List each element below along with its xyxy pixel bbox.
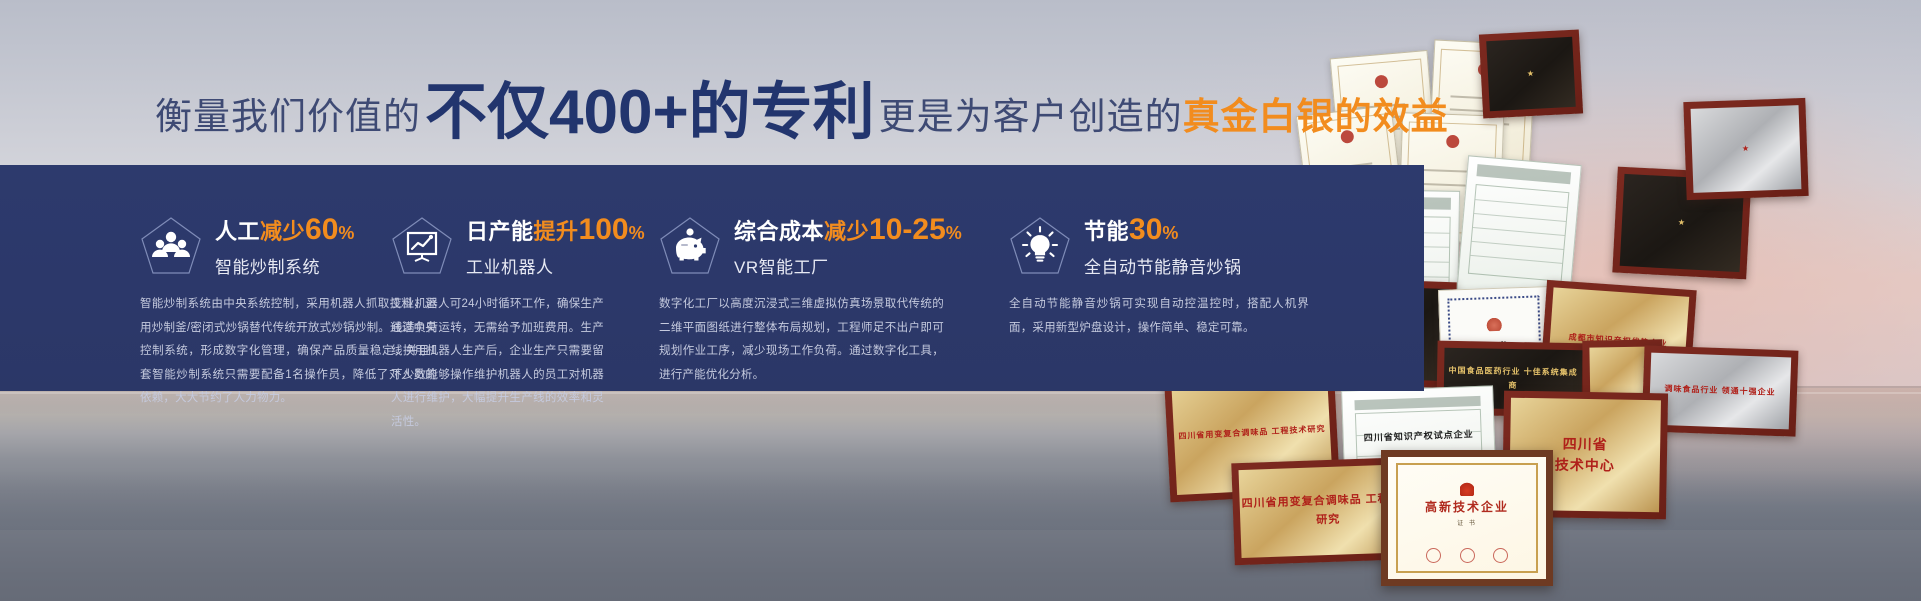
headline-tail: 更是为客户创造的 [879,86,1183,140]
feature-title: 综合成本减少10-25% [734,215,962,245]
certificate-item: 高新技术企业 证 书 [1381,450,1553,586]
certificate-label: 四川省 技术中心 [1555,433,1616,476]
feature-value: 10-25 [869,213,946,246]
certificate-label: ★ [1527,67,1536,81]
certificate-label: ★ [1742,142,1751,156]
page-title: 衡量我们价值的 不仅400+的专利 更是为客户创造的 真金白银的效益 [155,78,1449,138]
certificate-item: ★ [1479,29,1583,118]
feature-block-2: 日产能提升100% 工业机器人 工业机器人可24小时循环工作，确保生产线满负荷运… [336,165,604,391]
feature-title: 节能30% [1084,215,1242,245]
certificate-label: 调味食品行业 领通十强企业 [1664,382,1776,399]
feature-subtitle: 全自动节能静音炒锅 [1084,253,1242,278]
certificate-label: 四川省用变复合调味品 工程技术研究 [1178,422,1326,443]
feature-title-main: 综合成本 [734,219,824,244]
certificate-label: 高新技术企业 [1388,498,1546,515]
banner-root: 证 书 CERTIFICATE ★ 证 书 CERTIFICATE 成都市知识产… [0,0,1921,601]
feature-subtitle: VR智能工厂 [734,253,962,278]
headline-lead: 衡量我们价值的 [155,86,421,140]
piggy-bank-icon [659,216,721,276]
feature-title-accent: 减少 [824,219,869,244]
feature-title-accent: 提升 [534,219,579,244]
feature-title-main: 节能 [1084,219,1129,244]
certificate-item: ★ [1683,98,1808,200]
feature-body: 工业机器人可24小时循环工作，确保生产线满负荷运转，无需给予加班费用。生产线换用… [391,293,604,434]
feature-value: 60 [305,213,338,246]
feature-body: 数字化工厂以高度沉浸式三维虚拟仿真场景取代传统的二维平面图纸进行整体布局规划，工… [659,293,944,387]
headline-accent: 真金白银的效益 [1183,86,1449,140]
feature-unit: % [1162,223,1178,243]
feature-title: 人工减少60% [215,215,354,245]
certificate-sublabel: 证 书 [1388,518,1546,527]
feature-subtitle: 智能炒制系统 [215,253,354,278]
certificate-label: ★ [1678,216,1687,230]
feature-block-4: 节能30% 全自动节能静音炒锅 全自动节能静音炒锅可实现自动控温控时，搭配人机界… [944,165,1344,391]
lightbulb-icon [1009,216,1071,276]
feature-title-accent: 减少 [260,219,305,244]
feature-block-3: 综合成本减少10-25% VR智能工厂 数字化工厂以高度沉浸式三维虚拟仿真场景取… [604,165,944,391]
feature-body: 全自动节能静音炒锅可实现自动控温控时，搭配人机界面，采用新型炉盘设计，操作简单、… [1009,293,1309,340]
feature-title-main: 日产能 [466,219,534,244]
headline-highlight: 不仅400+的专利 [421,82,879,144]
feature-value: 30 [1129,213,1162,246]
feature-title-main: 人工 [215,219,260,244]
feature-block-1: 人工减少60% 智能炒制系统 智能炒制系统由中央系统控制，采用机器人抓取投料，运… [0,165,336,391]
people-group-icon [140,216,202,276]
features-panel: 人工减少60% 智能炒制系统 智能炒制系统由中央系统控制，采用机器人抓取投料，运… [0,165,1424,391]
chart-board-icon [391,216,453,276]
